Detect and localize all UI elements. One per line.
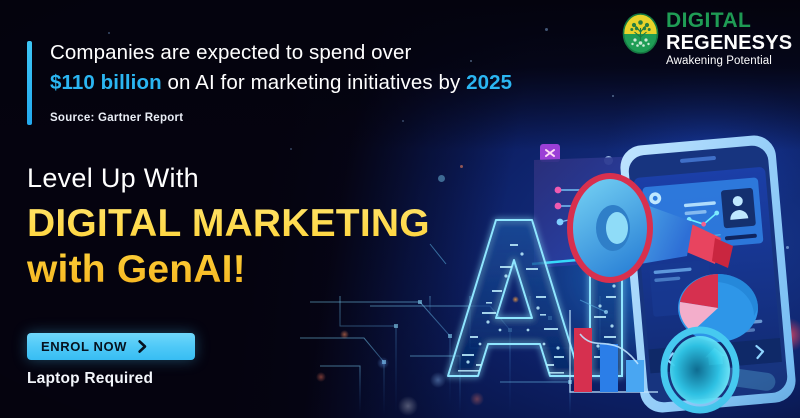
headline-kicker: Level Up With: [27, 163, 199, 194]
hero-illustration: [420, 130, 800, 418]
magnifying-glass-icon: [662, 326, 780, 416]
bar-chart-icon: [562, 308, 672, 400]
stat-line-1: Companies are expected to spend over: [50, 41, 411, 64]
logo-tagline: Awakening Potential: [666, 55, 792, 68]
stat-line-2-mid: on AI for marketing initiatives by: [162, 71, 466, 94]
page-title: DIGITAL MARKETING with GenAI!: [27, 201, 430, 293]
headline-line-2: with GenAI!: [27, 247, 430, 293]
enrol-now-button[interactable]: ENROL NOW: [27, 333, 195, 360]
headline-line-1: DIGITAL MARKETING: [27, 202, 430, 245]
stat-statement: Companies are expected to spend over $11…: [50, 38, 590, 98]
brand-logo[interactable]: DIGITAL REGENESYS Awakening Potential: [620, 10, 792, 72]
marketing-banner: DIGITAL REGENESYS Awakening Potential Co…: [0, 0, 800, 418]
laptop-required-note: Laptop Required: [27, 370, 153, 388]
logo-line-digital: DIGITAL: [666, 10, 792, 31]
stat-year: 2025: [466, 71, 512, 94]
stat-source: Source: Gartner Report: [50, 112, 183, 124]
stat-amount: $110 billion: [50, 71, 162, 94]
tree-emblem-icon: [620, 13, 661, 54]
logo-line-regenesys: REGENESYS: [666, 32, 792, 54]
accent-bar: [27, 41, 32, 125]
chevron-right-icon: [136, 340, 149, 353]
enrol-now-label: ENROL NOW: [41, 339, 127, 354]
logo-wordmark: DIGITAL REGENESYS Awakening Potential: [666, 10, 792, 68]
